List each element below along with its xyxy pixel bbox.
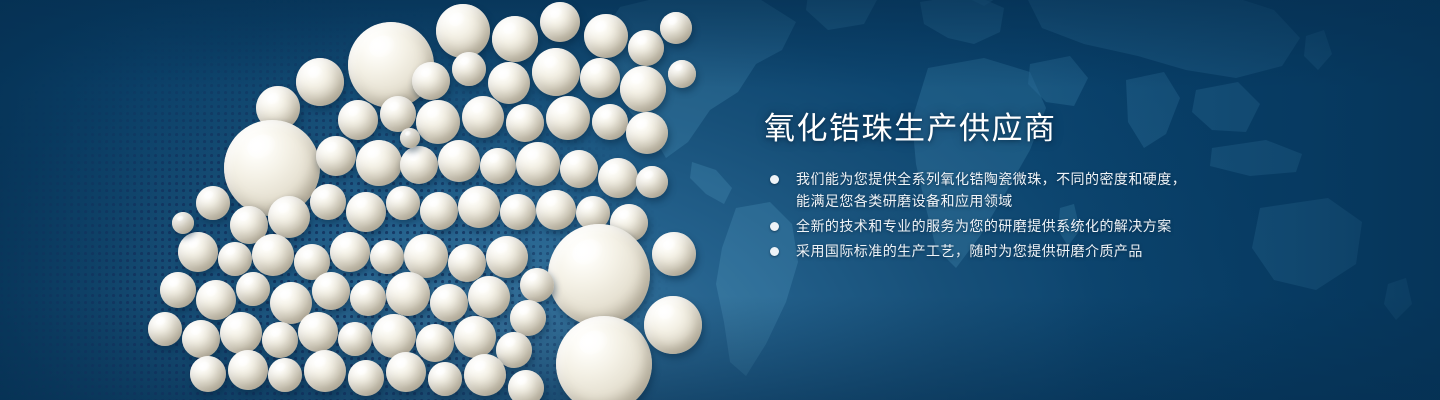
bead xyxy=(386,186,420,220)
bead xyxy=(668,60,696,88)
bead xyxy=(236,272,270,306)
bead xyxy=(370,240,404,274)
bead xyxy=(660,12,692,44)
bead xyxy=(172,212,194,234)
bead xyxy=(304,350,346,392)
banner-content: 氧化锆珠生产供应商 我们能为您提供全系列氧化锆陶瓷微珠，不同的密度和硬度， 能满… xyxy=(764,0,1324,400)
bead xyxy=(584,14,628,58)
bead xyxy=(492,16,538,62)
bead xyxy=(520,268,554,302)
bead xyxy=(386,272,430,316)
bead xyxy=(626,112,668,154)
bead xyxy=(350,280,386,316)
bead xyxy=(540,2,580,42)
bead xyxy=(400,128,420,148)
bead xyxy=(400,146,438,184)
bead xyxy=(218,242,252,276)
bead xyxy=(598,158,638,198)
bead xyxy=(500,194,536,230)
bead xyxy=(620,66,666,112)
hero-banner: 氧化锆珠生产供应商 我们能为您提供全系列氧化锆陶瓷微珠，不同的密度和硬度， 能满… xyxy=(0,0,1440,400)
bead xyxy=(310,184,346,220)
bead xyxy=(316,136,356,176)
bead xyxy=(510,300,546,336)
bead xyxy=(516,142,560,186)
bead xyxy=(348,360,384,396)
bead xyxy=(636,166,668,198)
bead xyxy=(580,58,620,98)
bead xyxy=(556,316,652,400)
bead xyxy=(628,30,664,66)
bead xyxy=(416,100,460,144)
bead xyxy=(380,96,416,132)
bead xyxy=(346,192,386,232)
bead xyxy=(430,284,468,322)
bead xyxy=(160,272,196,308)
bullet-dot-icon xyxy=(770,247,779,256)
list-item: 全新的技术和专业的服务为您的研磨提供系统化的解决方案 xyxy=(768,215,1238,237)
feature-list: 我们能为您提供全系列氧化锆陶瓷微珠，不同的密度和硬度， 能满足您各类研磨设备和应… xyxy=(768,168,1238,265)
bead xyxy=(228,350,268,390)
bead xyxy=(196,186,230,220)
list-item-line-1: 采用国际标准的生产工艺，随时为您提供研磨介质产品 xyxy=(796,240,1238,262)
bead xyxy=(546,96,590,140)
bead xyxy=(462,96,504,138)
bead xyxy=(480,148,516,184)
bead xyxy=(486,236,528,278)
bead xyxy=(428,362,462,396)
list-item-line-1: 全新的技术和专业的服务为您的研磨提供系统化的解决方案 xyxy=(796,215,1238,237)
bead xyxy=(220,312,262,354)
bead xyxy=(438,140,480,182)
bead xyxy=(454,316,496,358)
bead xyxy=(224,120,320,216)
bead xyxy=(548,224,650,326)
bead xyxy=(488,62,530,104)
bead xyxy=(268,196,310,238)
bead xyxy=(262,322,298,358)
bead xyxy=(532,48,580,96)
bead xyxy=(330,232,370,272)
bead xyxy=(312,272,350,310)
zirconia-beads-image xyxy=(0,0,760,400)
bead xyxy=(448,244,486,282)
bead xyxy=(468,276,510,318)
bead xyxy=(252,234,294,276)
bullet-dot-icon xyxy=(770,175,779,184)
bead xyxy=(182,320,220,358)
bead xyxy=(592,104,628,140)
bead xyxy=(508,370,544,400)
bead xyxy=(560,150,598,188)
bullet-dot-icon xyxy=(770,222,779,231)
page-title: 氧化锆珠生产供应商 xyxy=(764,110,1057,148)
bead xyxy=(458,186,500,228)
bead xyxy=(148,312,182,346)
bead xyxy=(536,190,576,230)
bead xyxy=(412,62,450,100)
bead xyxy=(338,100,378,140)
bead xyxy=(420,192,458,230)
bead xyxy=(296,58,344,106)
list-item-line-1: 我们能为您提供全系列氧化锆陶瓷微珠，不同的密度和硬度， xyxy=(796,168,1238,190)
bead xyxy=(338,322,372,356)
bead xyxy=(452,52,486,86)
bead xyxy=(464,354,506,396)
bead xyxy=(652,232,696,276)
list-item: 我们能为您提供全系列氧化锆陶瓷微珠，不同的密度和硬度， 能满足您各类研磨设备和应… xyxy=(768,168,1238,212)
bead xyxy=(436,4,490,58)
bead xyxy=(178,232,218,272)
bead xyxy=(298,312,338,352)
bead xyxy=(506,104,544,142)
bead xyxy=(386,352,426,392)
bead xyxy=(356,140,402,186)
bead xyxy=(644,296,702,354)
bead xyxy=(268,358,302,392)
list-item: 采用国际标准的生产工艺，随时为您提供研磨介质产品 xyxy=(768,240,1238,262)
list-item-line-2: 能满足您各类研磨设备和应用领域 xyxy=(796,190,1238,212)
bead xyxy=(190,356,226,392)
bead xyxy=(416,324,454,362)
